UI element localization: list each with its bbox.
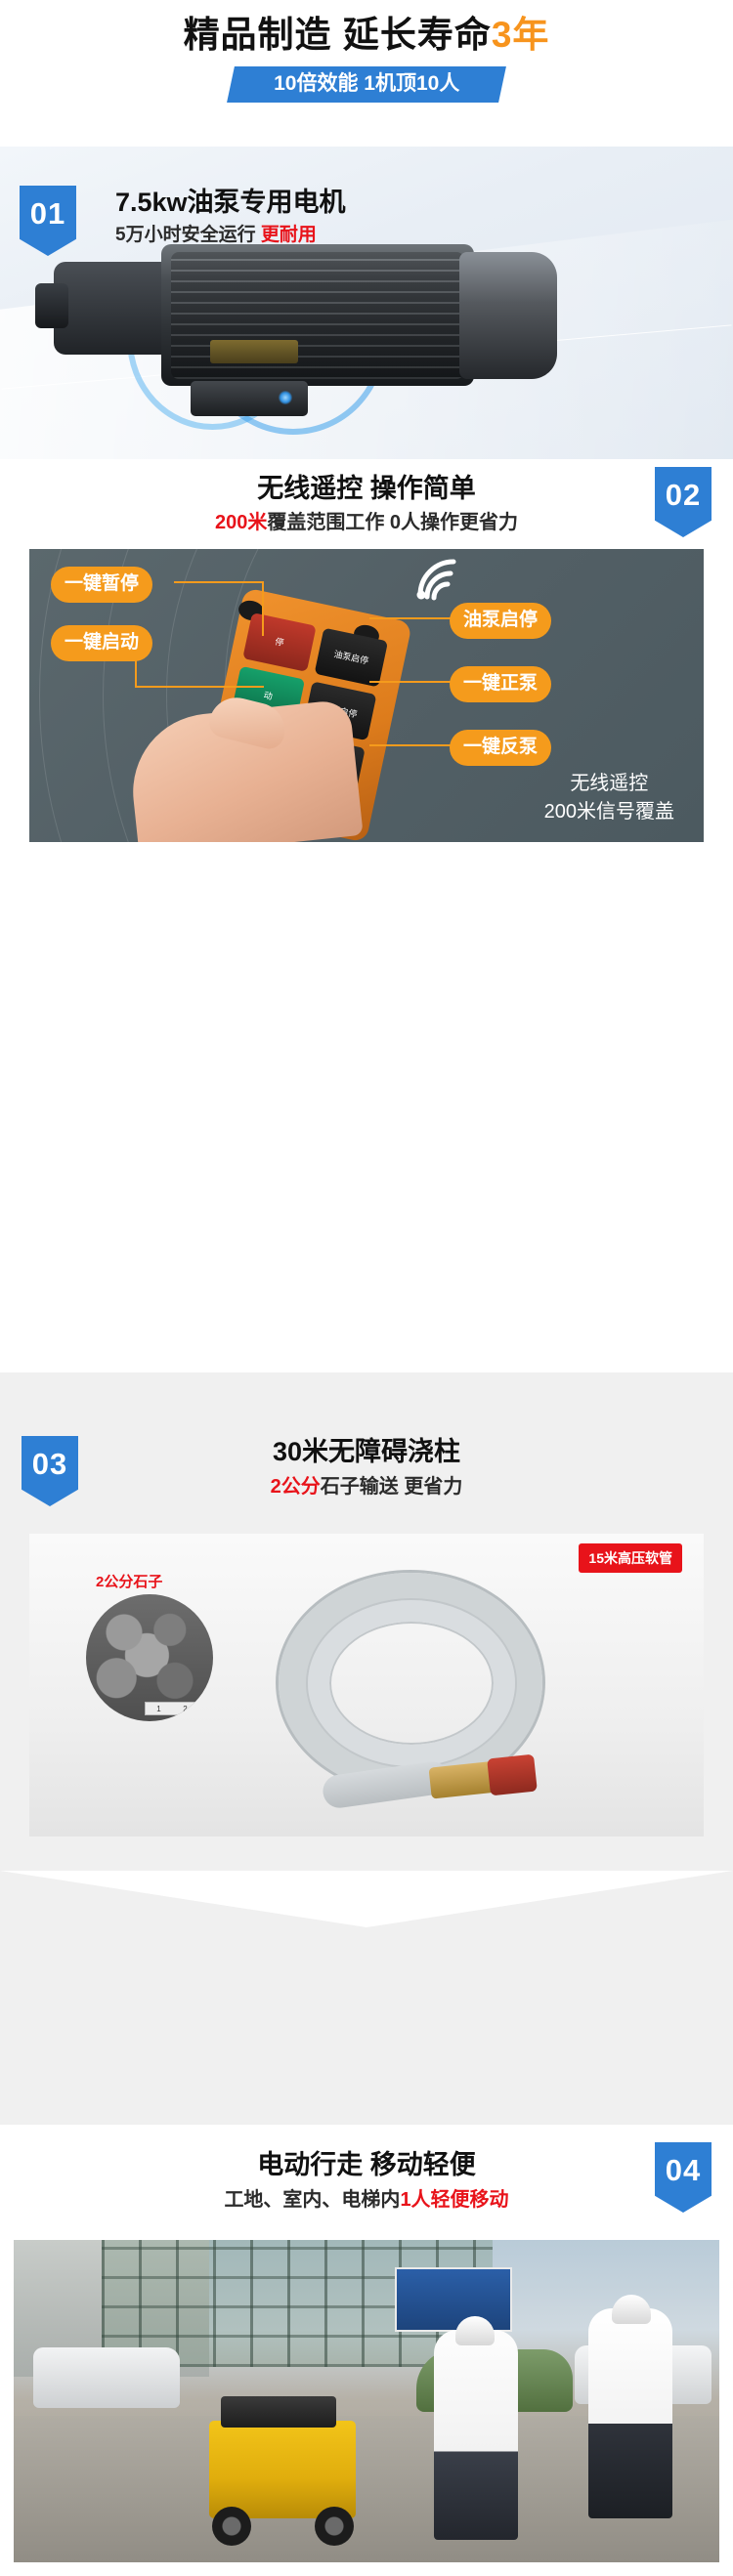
section-03: 03 30米无障碍浇柱 2公分石子输送 更省力 15米高压软管 2公分石子 1 … [0, 1372, 733, 2154]
motor-end-cap [459, 252, 557, 379]
section-02-title: 无线遥控 操作简单 [0, 471, 733, 506]
safety-helmet [612, 2295, 651, 2324]
leader-line [262, 581, 264, 636]
motor-led-glow-icon [279, 391, 292, 404]
motor-pump-nose [35, 283, 68, 328]
page-title-accent: 3年 [492, 15, 550, 55]
leader-line [369, 744, 452, 746]
section-01-subtitle-plain: 5万小时安全运行 [115, 225, 261, 245]
wifi-signal-icon [410, 554, 465, 603]
section-04-subtitle: 工地、室内、电梯内1人轻便移动 [0, 2185, 733, 2215]
callout-reverse-pump: 一键反泵 [450, 730, 551, 766]
section-01-badge: 01 [20, 186, 76, 256]
section-03-title: 30米无障碍浇柱 [0, 1433, 733, 1470]
section-03-subtitle: 2公分石子输送 更省力 [0, 1472, 733, 1501]
remote-control-image: 停 油泵启停 动 正泵启停 备用 反泵启停 [29, 549, 704, 842]
section-04-title: 电动行走 移动轻便 [0, 2146, 733, 2183]
badge-number: 01 [20, 186, 76, 256]
page-title: 精品制造 延长寿命3年 [0, 14, 733, 57]
callout-start: 一键启动 [51, 625, 152, 661]
section-01-title: 7.5kw油泵专用电机 [115, 186, 604, 219]
worker-person [434, 2330, 518, 2540]
motor-nameplate [210, 340, 298, 363]
ruler-mark-2: 2 [183, 1705, 187, 1713]
hose-coil-inner [308, 1600, 515, 1766]
section-03-heading: 30米无障碍浇柱 2公分石子输送 更省力 [0, 1433, 733, 1501]
leader-line [174, 581, 264, 583]
remote-caption-line1: 无线遥控 [544, 770, 674, 798]
subtitle-banner: 10倍效能 1机顶10人 [227, 66, 506, 103]
gravel-size-label: 2公分石子 [96, 1571, 162, 1591]
leader-line [369, 681, 452, 683]
section-04-subtitle-accent: 1人轻便移动 [400, 2189, 508, 2211]
machine-control-box [221, 2396, 336, 2428]
leader-line [369, 617, 452, 619]
product-detail-page: 精品制造 延长寿命3年 10倍效能 1机顶10人 01 7.5kw油 [0, 0, 733, 2576]
ruler-mark-1: 1 [156, 1705, 160, 1713]
white-van [33, 2347, 180, 2408]
worker-person [588, 2308, 672, 2518]
hose-and-gravel-image: 15米高压软管 2公分石子 1 2 [29, 1534, 704, 1837]
section-04-subtitle-plain: 工地、室内、电梯内 [224, 2189, 400, 2211]
section-03-subtitle-accent: 2公分 [271, 1476, 321, 1498]
chevron-divider [0, 1871, 733, 1927]
subtitle-banner-wrap: 10倍效能 1机顶10人 [0, 66, 733, 103]
ruler-scale: 1 2 [145, 1702, 199, 1715]
remote-caption: 无线遥控 200米信号覆盖 [544, 770, 674, 826]
section-01: 01 7.5kw油泵专用电机 5万小时安全运行 更耐用 [0, 147, 733, 459]
callout-pump-toggle: 油泵启停 [450, 603, 551, 639]
section-02-badge: 02 [655, 467, 711, 537]
section-02-subtitle-plain: 覆盖范围工作 0人操作更省力 [267, 512, 518, 533]
callout-forward-pump: 一键正泵 [450, 666, 551, 702]
hose-red-fitting [487, 1754, 538, 1796]
section-04-heading: 电动行走 移动轻便 工地、室内、电梯内1人轻便移动 [0, 2146, 733, 2215]
subtitle-banner-label: 10倍效能 1机顶10人 [274, 72, 459, 96]
section-01-heading: 7.5kw油泵专用电机 5万小时安全运行 更耐用 [115, 186, 604, 249]
chevron-divider [0, 842, 733, 899]
construction-site-image [14, 2240, 719, 2562]
leader-line [135, 656, 137, 688]
section-02-subtitle-accent: 200米 [215, 512, 267, 533]
machine-wheel [212, 2507, 251, 2546]
section-03-subtitle-plain: 石子输送 更省力 [321, 1476, 463, 1498]
callout-pause: 一键暂停 [51, 567, 152, 603]
section-01-subtitle: 5万小时安全运行 更耐用 [115, 222, 604, 249]
machine-wheel [315, 2507, 354, 2546]
remote-caption-line2: 200米信号覆盖 [544, 798, 674, 826]
motor-pump-housing [54, 262, 171, 355]
section-01-subtitle-accent: 更耐用 [261, 225, 317, 245]
section-02: 无线遥控 操作简单 200米覆盖范围工作 0人操作更省力 02 停 油泵启停 动… [0, 459, 733, 1343]
section-04-badge: 04 [655, 2142, 711, 2213]
section-02-heading: 无线遥控 操作简单 200米覆盖范围工作 0人操作更省力 [0, 471, 733, 537]
section-04: 电动行走 移动轻便 工地、室内、电梯内1人轻便移动 04 [0, 2125, 733, 2576]
page-header: 精品制造 延长寿命3年 10倍效能 1机顶10人 [0, 0, 733, 147]
badge-number: 04 [655, 2142, 711, 2213]
leader-line [135, 686, 264, 688]
badge-number: 02 [655, 467, 711, 537]
concrete-pump-machine [209, 2421, 356, 2518]
gravel-sample-photo: 1 2 [86, 1594, 213, 1721]
hose-length-badge: 15米高压软管 [579, 1543, 682, 1573]
section-02-subtitle: 200米覆盖范围工作 0人操作更省力 [0, 508, 733, 537]
site-signboard [395, 2267, 512, 2332]
page-title-main: 精品制造 延长寿命 [184, 15, 492, 55]
